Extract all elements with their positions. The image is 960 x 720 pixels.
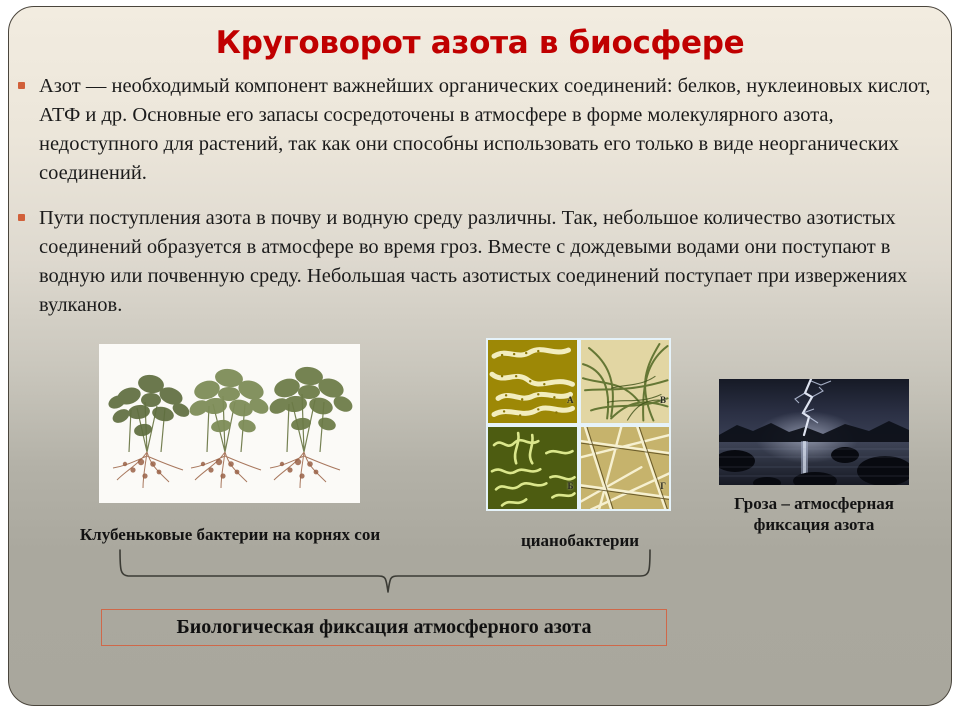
soybean-photo-caption: Клубеньковые бактерии на корнях сои <box>45 524 415 545</box>
grouping-brace-icon <box>110 546 660 594</box>
panel-a-drawing <box>488 340 577 423</box>
panel-label-g: Г <box>660 481 666 491</box>
lightning-illustration <box>719 379 909 485</box>
summary-box-label: Биологическая фиксация атмосферного азот… <box>177 616 592 639</box>
panel-b-drawing <box>581 340 670 423</box>
cyanobacteria-panel-v: Б <box>488 427 577 510</box>
page-title: Круговорот азота в биосфере <box>0 26 960 60</box>
cyanobacteria-panel-grid: А <box>486 338 671 511</box>
lightning-storm-photo <box>719 379 909 485</box>
cyanobacteria-panel-b: В <box>581 340 670 423</box>
bullet-marker-icon <box>18 214 25 221</box>
bullet-paragraph-1: Азот — необходимый компонент важнейших о… <box>39 72 946 188</box>
summary-box: Биологическая фиксация атмосферного азот… <box>101 609 667 646</box>
bullet-paragraph-2: Пути поступления азота в почву и водную … <box>39 204 946 320</box>
soybean-roots-photo <box>99 344 360 503</box>
bullet-item: Азот — необходимый компонент важнейших о… <box>14 72 946 188</box>
cyanobacteria-panel-a: А <box>488 340 577 423</box>
slide-canvas: Круговорот азота в биосфере Азот — необх… <box>0 0 960 720</box>
soybean-roots-illustration <box>99 344 360 503</box>
bullet-item: Пути поступления азота в почву и водную … <box>14 204 946 320</box>
panel-g-drawing <box>581 427 670 510</box>
panel-label-a: А <box>567 395 574 405</box>
panel-label-v: Б <box>568 481 574 491</box>
body-text-block: Азот — необходимый компонент важнейших о… <box>14 72 946 336</box>
lightning-caption-line-2: фиксация азота <box>700 514 928 535</box>
bullet-marker-icon <box>18 82 25 89</box>
lightning-photo-caption: Гроза – атмосферная фиксация азота <box>700 493 928 535</box>
cyanobacteria-micrographs: А <box>486 338 671 511</box>
panel-label-b: В <box>660 395 666 405</box>
panel-v-drawing <box>488 427 577 510</box>
cyanobacteria-panel-g: Г <box>581 427 670 510</box>
lightning-caption-line-1: Гроза – атмосферная <box>700 493 928 514</box>
